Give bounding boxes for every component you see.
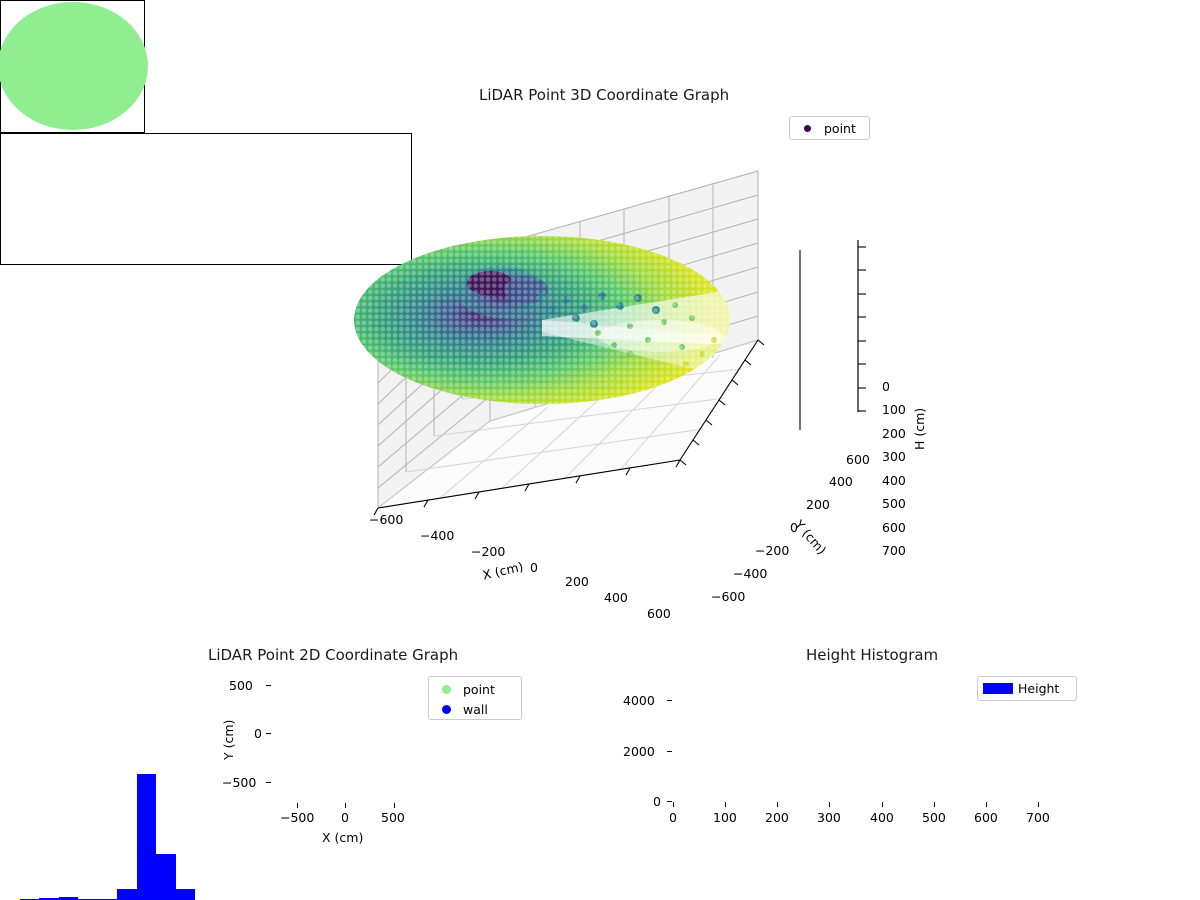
x-tick--200: −200 [471,544,505,559]
lidar-3d-plot[interactable]: 0 100 200 300 400 500 600 700 H (cm) [330,140,890,630]
h-axis-ticks [858,247,866,411]
z-tick-200: 200 [882,426,906,441]
figure-canvas: LiDAR Point 3D Coordinate Graph point [0,0,1200,900]
x2d-tick-500: 500 [381,810,405,825]
xh-tick-0: 0 [669,810,677,825]
point-cloud [354,236,730,404]
x-tick-600: 600 [647,606,671,621]
z-tick-0: 0 [882,379,890,394]
xh-tick-mark-700 [1038,802,1039,807]
yh-tick-mark-2000 [667,751,672,752]
y2d-tick-0: 0 [254,726,262,741]
yh-tick-2000: 2000 [623,744,655,759]
x-tick-200: 200 [565,574,589,589]
xh-tick-mark-600 [986,802,987,807]
x2d-tick-mark-500 [394,803,395,808]
xh-tick-mark-400 [882,802,883,807]
xh-tick-100: 100 [713,810,737,825]
y2d-tick-500: 500 [229,678,253,693]
yh-tick-0: 0 [653,794,661,809]
z-tick-700: 700 [882,543,906,558]
yh-tick-mark-0 [667,801,672,802]
x-tick-400: 400 [604,590,628,605]
legend-label: point [463,682,495,697]
y2d-axis-label: Y (cm) [221,720,236,760]
xh-tick-200: 200 [765,810,789,825]
x2d-tick-mark-0 [345,803,346,808]
y-tick-200: 200 [806,497,830,512]
x-tick--400: −400 [420,528,454,543]
xh-tick-700: 700 [1026,810,1050,825]
panel3d-title: LiDAR Point 3D Coordinate Graph [479,86,729,104]
lidar-2d-plot[interactable] [0,0,145,133]
x2d-axis-label: X (cm) [322,830,363,845]
x-tick-0: 0 [530,560,538,575]
y-tick--600: −600 [711,589,745,604]
x2d-tick-0: 0 [341,810,349,825]
legend-item-point: point [429,679,521,699]
x2d-tick-mark--500 [297,803,298,808]
point-marker-icon [429,685,463,694]
y-tick--400: −400 [733,566,767,581]
panel3d-legend[interactable]: point [789,116,870,140]
z-tick-600: 600 [882,520,906,535]
z-tick-100: 100 [882,402,906,417]
legend-item-point: point [790,117,869,139]
point-marker-icon [790,125,824,132]
xh-tick-mark-100 [725,802,726,807]
xh-tick-300: 300 [817,810,841,825]
xh-tick-600: 600 [974,810,998,825]
y2d-tick-mark--500 [266,782,271,783]
xh-tick-mark-500 [934,802,935,807]
panel2d-title: LiDAR Point 2D Coordinate Graph [208,646,458,664]
y-tick--200: −200 [755,543,789,558]
xh-tick-400: 400 [870,810,894,825]
legend-label: wall [463,702,488,717]
panel-hist-title: Height Histogram [806,646,938,664]
xh-tick-mark-200 [777,802,778,807]
y2d-tick--500: −500 [222,775,256,790]
yh-tick-4000: 4000 [623,693,655,708]
legend-item-wall: wall [429,699,521,719]
yh-tick-mark-4000 [667,700,672,701]
z-tick-500: 500 [882,496,906,511]
panel-hist-legend[interactable]: Height [977,676,1077,701]
xh-tick-mark-0 [673,802,674,807]
x-tick--600: −600 [369,512,403,527]
height-patch-icon [978,683,1018,694]
x2d-tick--500: −500 [280,810,314,825]
y-tick-600: 600 [846,452,870,467]
wall-marker-icon [429,705,463,714]
legend-item-height: Height [978,677,1076,700]
xh-tick-mark-300 [829,802,830,807]
legend-label: point [824,121,856,136]
z-tick-400: 400 [882,473,906,488]
panel2d-legend[interactable]: point wall [428,676,522,720]
y2d-tick-mark-500 [266,685,271,686]
z-axis-label: H (cm) [912,408,927,450]
y-tick-400: 400 [829,474,853,489]
z-tick-300: 300 [882,449,906,464]
xh-tick-500: 500 [922,810,946,825]
legend-label: Height [1018,681,1059,696]
point-disc [0,2,145,130]
y2d-tick-mark-0 [266,733,271,734]
